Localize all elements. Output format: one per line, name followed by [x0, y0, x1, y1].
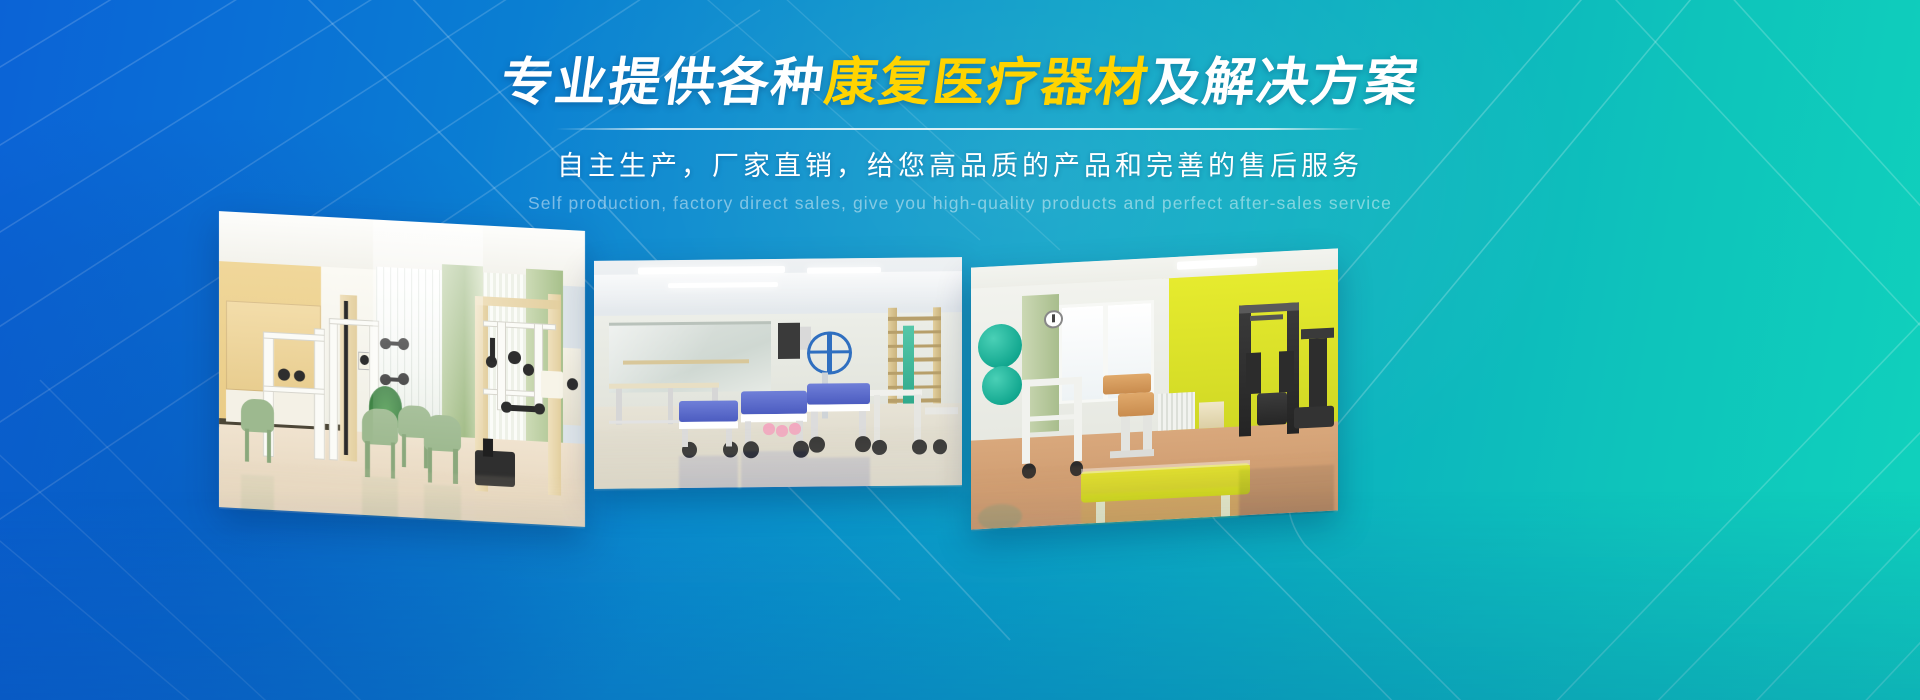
title-divider	[555, 128, 1365, 130]
photo-rehab-room-right[interactable]	[971, 248, 1338, 529]
subtitle-chinese: 自主生产，厂家直销，给您高品质的产品和完善的售后服务	[0, 144, 1920, 183]
scene-center	[594, 257, 962, 489]
banner-text-block: 专业提供各种康复医疗器材及解决方案 自主生产，厂家直销，给您高品质的产品和完善的…	[0, 56, 1920, 214]
promotional-banner: 专业提供各种康复医疗器材及解决方案 自主生产，厂家直销，给您高品质的产品和完善的…	[0, 0, 1920, 700]
subtitle-english: Self production, factory direct sales, g…	[0, 193, 1920, 214]
scene-left	[219, 211, 585, 527]
photo-rehab-room-center[interactable]	[594, 257, 962, 489]
page-title: 专业提供各种康复医疗器材及解决方案	[497, 56, 1423, 111]
headline-part-white-2: 及解决方案	[1145, 53, 1423, 113]
headline-part-yellow: 康复医疗器材	[821, 53, 1153, 113]
photo-rehab-room-left[interactable]	[219, 211, 585, 527]
headline-part-white-1: 专业提供各种	[497, 53, 829, 113]
scene-right	[971, 248, 1338, 529]
